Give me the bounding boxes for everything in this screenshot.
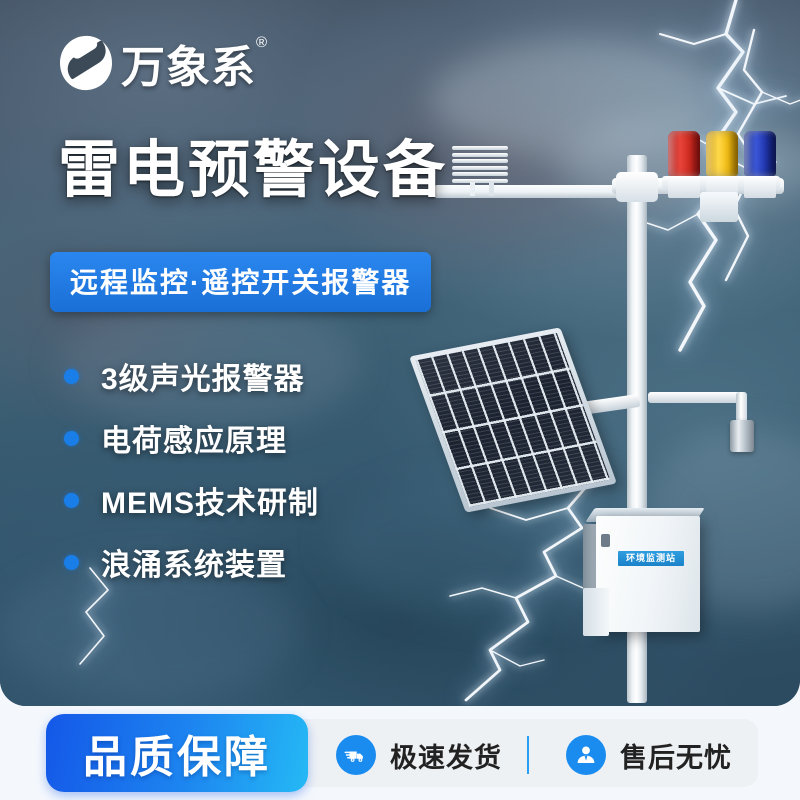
solar-panel — [409, 327, 617, 512]
bullet-dot-icon — [64, 431, 79, 446]
beacon-junction-box — [700, 192, 738, 222]
cabinet-vent — [601, 534, 610, 547]
alarm-beacon-blue — [744, 131, 776, 198]
quality-guarantee-label: 品质保障 — [83, 721, 271, 785]
brand-name: 万象系 — [121, 46, 272, 90]
sensor-stem — [489, 182, 494, 196]
cabinet-label: 环境监测站 — [618, 551, 684, 566]
feature-list: 3级声光报警器 电荷感应原理 MEMS技术研制 浪涌系统装置 — [64, 345, 319, 593]
hero-photo-area: 环境监测站 万象系 ® 雷电预警设备 远程监控·遥控开关报警器 3级声光报警器 … — [0, 0, 800, 706]
service-label: 极速发货 — [390, 736, 502, 775]
product-poster: 环境监测站 万象系 ® 雷电预警设备 远程监控·遥控开关报警器 3级声光报警器 … — [0, 0, 800, 800]
service-after-sales: 售后无忧 — [566, 735, 732, 775]
feature-label: 浪涌系统装置 — [101, 540, 287, 584]
list-item: MEMS技术研制 — [64, 469, 319, 531]
alarm-beacon-yellow — [706, 131, 738, 198]
feature-label: 电荷感应原理 — [101, 416, 287, 460]
alarm-beacon-red — [668, 131, 700, 198]
service-label: 售后无忧 — [620, 736, 732, 775]
bullet-dot-icon — [64, 555, 79, 570]
sensor-stem — [470, 182, 475, 196]
radiation-shield-sensor — [452, 146, 508, 182]
swoosh-sphere-logo-icon — [57, 33, 114, 92]
footer-trust-bar: 品质保障 极速发货 — [0, 706, 800, 800]
solar-cell-grid — [416, 333, 610, 507]
registered-trademark-mark: ® — [256, 34, 272, 51]
page-title: 雷电预警设备 — [58, 140, 448, 202]
bullet-dot-icon — [64, 369, 79, 384]
control-cabinet — [596, 516, 700, 632]
feature-label: 3级声光报警器 — [101, 354, 305, 398]
list-item: 3级声光报警器 — [64, 345, 319, 407]
quality-guarantee-badge: 品质保障 — [46, 714, 308, 792]
mast-clamp — [616, 172, 658, 202]
sensor-arm-horizontal — [648, 392, 744, 403]
cylinder-sensor — [730, 420, 754, 452]
subtitle-banner: 远程监控·遥控开关报警器 — [50, 252, 431, 312]
list-item: 电荷感应原理 — [64, 407, 319, 469]
feature-label: MEMS技术研制 — [101, 478, 319, 522]
brand-logo: 万象系 ® — [60, 36, 272, 90]
delivery-truck-icon — [336, 735, 376, 775]
cabinet-lower-box — [583, 588, 609, 636]
list-item: 浪涌系统装置 — [64, 531, 319, 593]
support-agent-icon — [566, 735, 606, 775]
bullet-dot-icon — [64, 493, 79, 508]
service-fast-shipping: 极速发货 — [336, 735, 502, 775]
cross-arm-left — [434, 185, 634, 198]
footer-divider — [527, 736, 529, 774]
